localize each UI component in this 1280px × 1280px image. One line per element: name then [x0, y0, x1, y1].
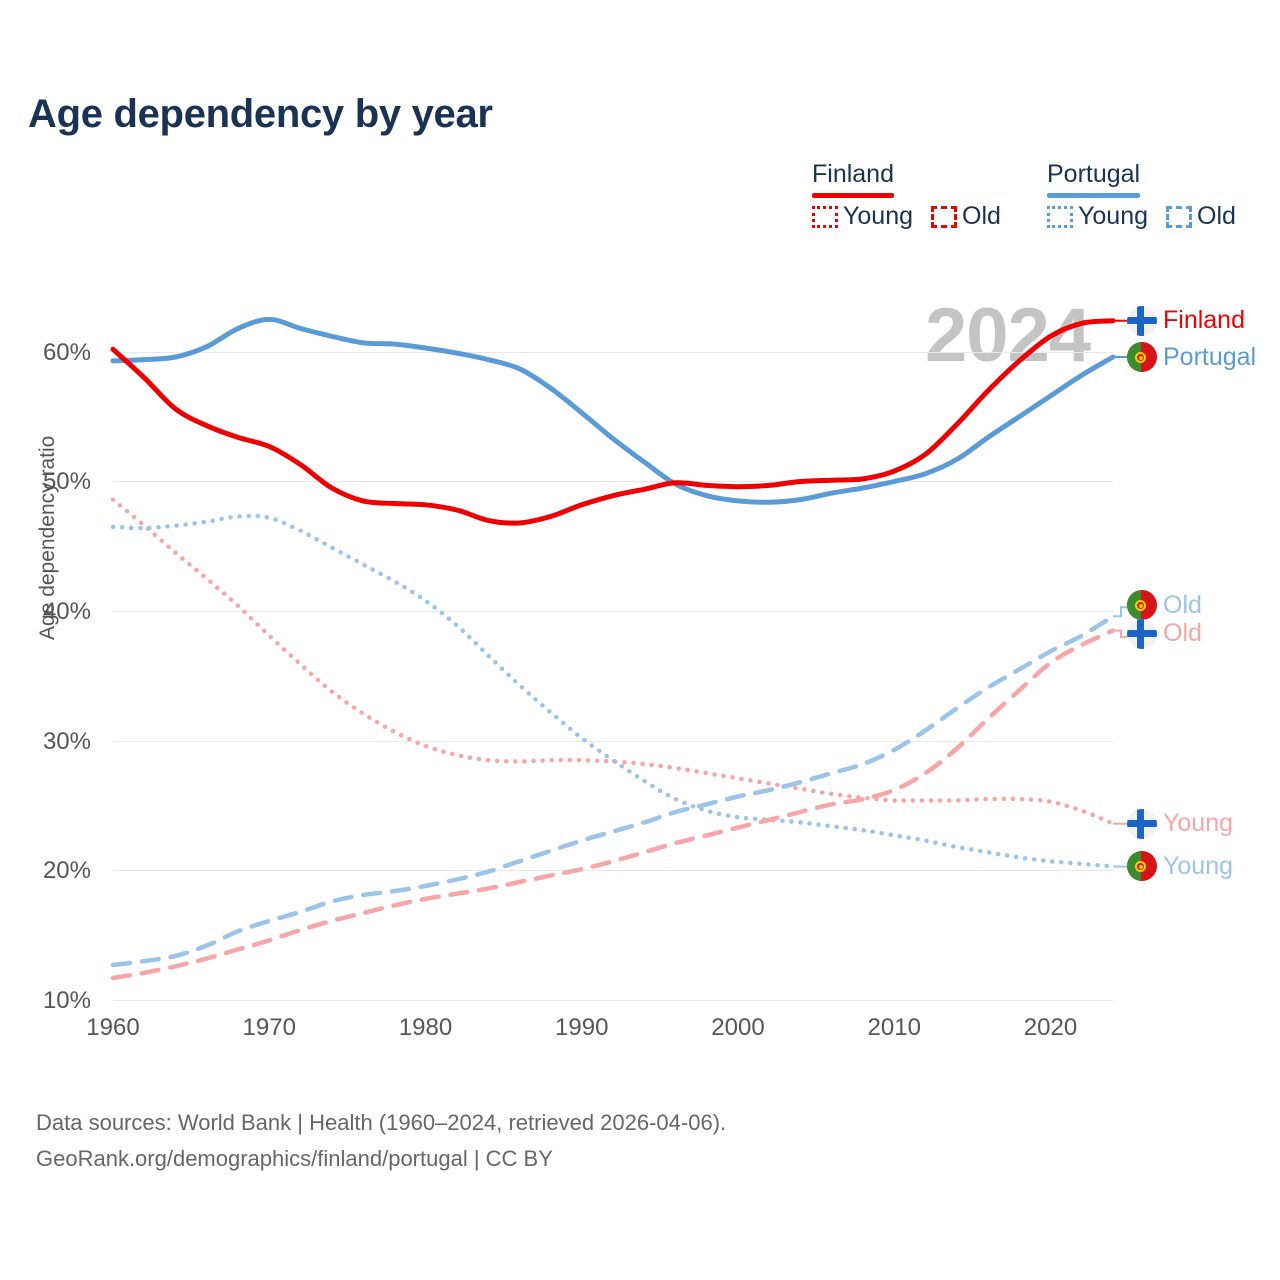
end-label-text: Young — [1163, 809, 1233, 838]
leader-line — [1113, 631, 1127, 637]
legend-rule-finland — [812, 193, 894, 198]
end-label-finland-old[interactable]: Old — [1127, 619, 1202, 649]
legend-item-label: Old — [962, 202, 1001, 231]
x-axis-tick: 1980 — [366, 1014, 486, 1042]
plot-area: 10%20%30%40%50%60% 196019701980199020002… — [113, 300, 1113, 1000]
legend-country-portugal: Portugal — [1047, 160, 1140, 192]
finland-flag-icon — [1127, 306, 1157, 336]
gridline — [113, 1000, 1113, 1001]
series-line-finland-total — [113, 321, 1113, 523]
legend: Finland Young Old Portugal Young — [812, 160, 1272, 240]
x-axis-tick: 2010 — [834, 1014, 954, 1042]
end-label-portugal-old[interactable]: Old — [1127, 590, 1202, 620]
page-title: Age dependency by year — [28, 92, 493, 137]
end-label-finland-total[interactable]: Finland — [1127, 306, 1245, 336]
legend-group-portugal: Portugal Young Old — [1047, 160, 1140, 198]
leader-line — [1113, 607, 1127, 616]
series-line-portugal-old — [113, 616, 1113, 965]
y-axis-tick: 30% — [0, 728, 91, 756]
legend-item-label: Old — [1197, 202, 1236, 231]
portugal-flag-icon — [1127, 590, 1157, 620]
finland-flag-icon — [1127, 619, 1157, 649]
legend-item-finland-old[interactable]: Old — [931, 202, 1001, 231]
finland-flag-icon — [1127, 809, 1157, 839]
footer-line-1: Data sources: World Bank | Health (1960–… — [36, 1105, 726, 1141]
end-label-text: Finland — [1163, 306, 1245, 335]
portugal-flag-icon — [1127, 851, 1157, 881]
legend-swatch-dotted-icon — [1047, 206, 1073, 228]
x-axis-tick: 1960 — [53, 1014, 173, 1042]
footer: Data sources: World Bank | Health (1960–… — [36, 1105, 726, 1176]
x-axis-tick: 1990 — [522, 1014, 642, 1042]
legend-swatch-dotted-icon — [812, 206, 838, 228]
y-axis-label: Age dependency ratio — [36, 436, 60, 640]
legend-item-finland-young[interactable]: Young — [812, 202, 913, 231]
portugal-flag-icon — [1127, 342, 1157, 372]
series-line-portugal-total — [113, 319, 1113, 502]
legend-item-label: Young — [1078, 202, 1148, 231]
x-axis-tick: 1970 — [209, 1014, 329, 1042]
legend-country-finland: Finland — [812, 160, 894, 192]
x-axis-tick: 2020 — [991, 1014, 1111, 1042]
end-label-text: Old — [1163, 591, 1202, 620]
legend-rule-portugal — [1047, 193, 1140, 198]
y-axis-tick: 10% — [0, 987, 91, 1015]
legend-item-label: Young — [843, 202, 913, 231]
series-line-portugal-young — [113, 516, 1113, 867]
end-label-text: Old — [1163, 619, 1202, 648]
series-line-finland-young — [113, 500, 1113, 824]
y-axis-tick: 60% — [0, 339, 91, 367]
end-label-finland-young[interactable]: Young — [1127, 809, 1233, 839]
chart-root: Age dependency by year Finland Young Old… — [0, 0, 1280, 1280]
series-lines — [113, 300, 1113, 1000]
legend-items-portugal: Young Old — [1047, 202, 1236, 231]
end-label-text: Portugal — [1163, 343, 1256, 372]
footer-line-2: GeoRank.org/demographics/finland/portuga… — [36, 1141, 726, 1177]
x-axis-tick: 2000 — [678, 1014, 798, 1042]
y-axis-tick: 20% — [0, 857, 91, 885]
legend-swatch-dashed-icon — [1166, 206, 1192, 228]
legend-items-finland: Young Old — [812, 202, 1001, 231]
legend-item-portugal-young[interactable]: Young — [1047, 202, 1148, 231]
end-label-portugal-young[interactable]: Young — [1127, 851, 1233, 881]
end-label-text: Young — [1163, 852, 1233, 881]
legend-item-portugal-old[interactable]: Old — [1166, 202, 1236, 231]
legend-group-finland: Finland Young Old — [812, 160, 894, 198]
series-line-finland-old — [113, 631, 1113, 978]
end-label-portugal-total[interactable]: Portugal — [1127, 342, 1256, 372]
legend-swatch-dashed-icon — [931, 206, 957, 228]
